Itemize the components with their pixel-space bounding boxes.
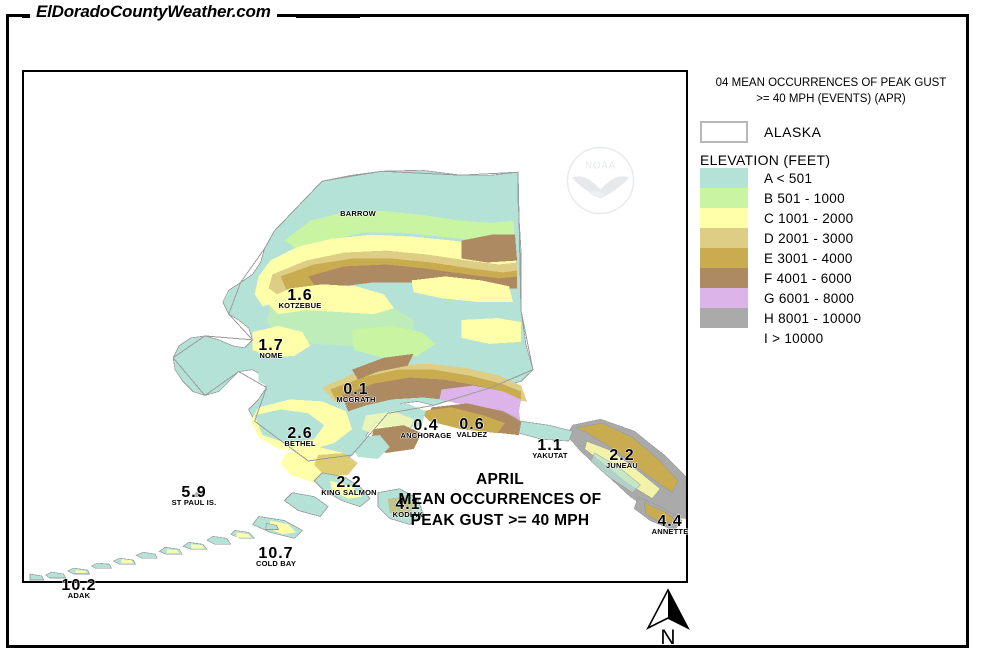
elevation-label: A < 501 xyxy=(764,171,812,186)
elevation-label: I > 10000 xyxy=(764,331,823,346)
legend-title-line-1: 04 MEAN OCCURRENCES OF PEAK GUST xyxy=(700,76,962,92)
legend-title-line-2: >= 40 MPH (EVENTS) (APR) xyxy=(700,92,962,108)
caption-line-2: MEAN OCCURRENCES OF xyxy=(355,490,645,510)
elevation-swatch xyxy=(700,248,748,268)
elevation-legend-row: A < 501 xyxy=(700,168,975,188)
map-caption: APRIL MEAN OCCURRENCES OF PEAK GUST >= 4… xyxy=(355,470,645,531)
elevation-label: B 501 - 1000 xyxy=(764,191,845,206)
page-title: ElDoradoCountyWeather.com xyxy=(30,2,277,22)
elevation-swatch xyxy=(700,288,748,308)
elevation-label: F 4001 - 6000 xyxy=(764,271,852,286)
elevation-legend-row: I > 10000 xyxy=(700,328,975,348)
caption-line-1: APRIL xyxy=(355,470,645,490)
elevation-swatch xyxy=(700,168,748,188)
elevation-legend-row: B 501 - 1000 xyxy=(700,188,975,208)
elevation-label: G 6001 - 8000 xyxy=(764,291,854,306)
elevation-legend-row: E 3001 - 4000 xyxy=(700,248,975,268)
elevation-swatch xyxy=(700,228,748,248)
north-letter: N xyxy=(640,628,696,648)
elevation-label: D 2001 - 3000 xyxy=(764,231,853,246)
elevation-legend-row: D 2001 - 3000 xyxy=(700,228,975,248)
elevation-label: H 8001 - 10000 xyxy=(764,311,861,326)
caption-line-3: PEAK GUST >= 40 MPH xyxy=(355,511,645,531)
elevation-label: C 1001 - 2000 xyxy=(764,211,853,226)
elevation-legend-rows: A < 501B 501 - 1000C 1001 - 2000D 2001 -… xyxy=(700,168,975,348)
elevation-swatch xyxy=(700,308,748,328)
legend-panel: 04 MEAN OCCURRENCES OF PEAK GUST >= 40 M… xyxy=(700,76,975,348)
elevation-legend-row: F 4001 - 6000 xyxy=(700,268,975,288)
elevation-swatch xyxy=(700,328,748,348)
legend-title: 04 MEAN OCCURRENCES OF PEAK GUST >= 40 M… xyxy=(700,76,962,107)
elevation-legend-title: ELEVATION (FEET) xyxy=(700,152,975,168)
elevation-swatch xyxy=(700,188,748,208)
elevation-swatch xyxy=(700,208,748,228)
elevation-swatch xyxy=(700,268,748,288)
title-rule-right xyxy=(296,15,360,18)
legend-alaska-row: ALASKA xyxy=(700,121,975,143)
north-arrow: N xyxy=(640,588,696,648)
elevation-label: E 3001 - 4000 xyxy=(764,251,853,266)
elevation-legend-row: H 8001 - 10000 xyxy=(700,308,975,328)
noaa-wordmark: NOAA xyxy=(585,161,616,172)
elevation-legend-row: C 1001 - 2000 xyxy=(700,208,975,228)
alaska-swatch xyxy=(700,121,748,143)
elevation-legend-row: G 6001 - 8000 xyxy=(700,288,975,308)
alaska-label: ALASKA xyxy=(764,124,821,140)
noaa-logo-icon: NOAA xyxy=(563,143,638,218)
